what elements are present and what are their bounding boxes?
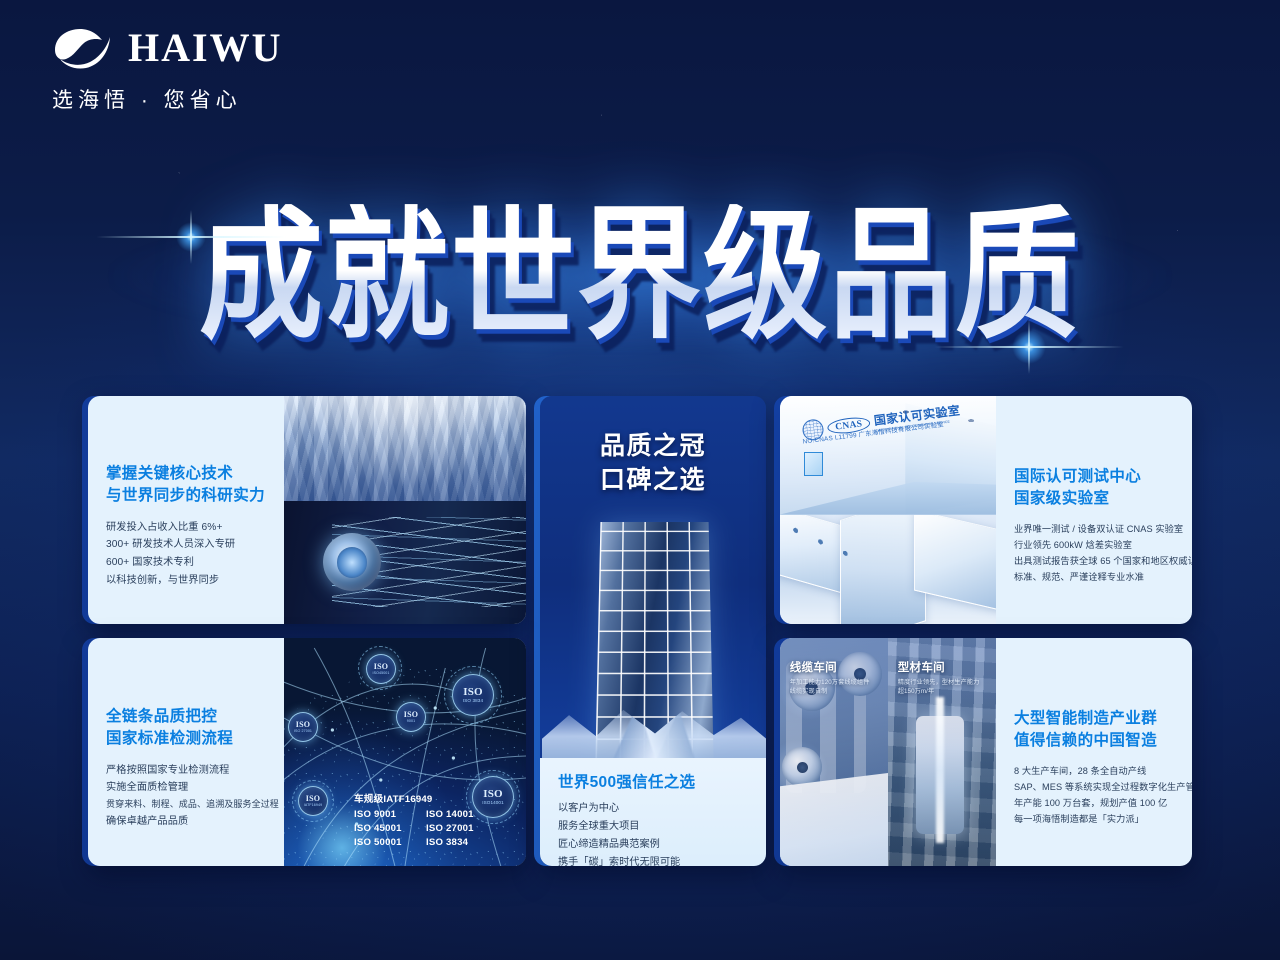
corridor-floor — [780, 479, 996, 515]
fiber-optic-photo — [284, 501, 526, 624]
list-item: 每一项海悟制造都是「实力派」 — [1014, 812, 1176, 828]
iso-badge-word: ISO — [463, 687, 483, 698]
list-item: 业界唯一测试 / 设备双认证 CNAS 实验室 — [1014, 522, 1176, 538]
card-grid: 掌握关键核心技术 与世界同步的科研实力 研发投入占收入比重 6%+ 300+ 研… — [88, 396, 1192, 866]
card-quality-control-media: ISO ISO45001 ISO 9001 ISO ISO 3834 — [284, 638, 526, 866]
card-quality-control-text: 全链条品质把控 国家标准检测流程 严格按照国家专业检测流程 实施全面质检管理 贯… — [88, 638, 284, 866]
center-card-footer-bullets: 以客户为中心 服务全球重大项目 匠心缔造精品典范案例 携手「碳」索时代无限可能 — [558, 800, 750, 866]
iso-standard: ISO 14001 — [426, 809, 474, 820]
center-card-heading: 品质之冠 口碑之选 — [540, 430, 766, 497]
center-card-heading-line2: 口碑之选 — [540, 464, 766, 498]
lab-corridor-photo: CNAS 国家认可实验室 CHINA NATIONAL ACCREDITATIO… — [780, 396, 996, 515]
card-manufacturing-inner: 线缆车间 年加工能力120万套线缆组件 线缆实现自制 型材车间 精度行业领先，型… — [780, 638, 1192, 866]
number-one-tower-graphic — [554, 516, 756, 758]
card-quality-control-title-line1: 全链条品质把控 — [106, 706, 268, 728]
card-technology[interactable]: 掌握关键核心技术 与世界同步的科研实力 研发投入占收入比重 6%+ 300+ 研… — [88, 396, 526, 624]
card-technology-bullets: 研发投入占收入比重 6%+ 300+ 研发技术人员深入专研 600+ 国家技术专… — [106, 519, 268, 589]
iso-standard: ISO 3834 — [426, 837, 474, 848]
iso-badge-word: ISO — [404, 711, 418, 719]
iso-badge-number: ISO 27001 — [294, 729, 312, 733]
iso-badge-number: 9001 — [407, 719, 415, 723]
iso-badge-number: ISO 3834 — [463, 698, 483, 704]
center-card-footer: 世界500强信任之选 以客户为中心 服务全球重大项目 匠心缔造精品典范案例 携手… — [540, 758, 766, 866]
hvac-duct-photo — [780, 515, 996, 624]
roller-face — [782, 747, 822, 787]
card-quality-control-inner: 全链条品质把控 国家标准检测流程 严格按照国家专业检测流程 实施全面质检管理 贯… — [88, 638, 526, 866]
card-quality-control-bullets: 严格按照国家专业检测流程 实施全面质检管理 贯穿来料、制程、成品、追溯及服务全过… — [106, 762, 268, 830]
card-manufacturing-title-line2: 值得信赖的中国智造 — [1014, 730, 1176, 752]
card-laboratory-inner: CNAS 国家认可实验室 CHINA NATIONAL ACCREDITATIO… — [780, 396, 1192, 624]
list-item: 研发投入占收入比重 6%+ — [106, 519, 268, 537]
card-technology-title: 掌握关键核心技术 与世界同步的科研实力 — [106, 463, 268, 507]
list-item: 严格按照国家专业检测流程 — [106, 762, 268, 780]
list-item: 出具测试报告获全球 65 个国家和地区权威认可 — [1014, 554, 1176, 570]
iso-badge-27001: ISO ISO 27001 — [288, 712, 318, 742]
iso-list-grid: ISO 9001 ISO 14001 ISO 45001 ISO 27001 I… — [354, 809, 474, 848]
card-laboratory-bullets: 业界唯一测试 / 设备双认证 CNAS 实验室 行业领先 600kW 焓差实验室… — [1014, 522, 1176, 585]
list-item: 服务全球重大项目 — [558, 818, 750, 836]
iso-badge-number: IATF16949 — [304, 803, 322, 807]
list-item: 携手「碳」索时代无限可能 — [558, 854, 750, 866]
card-technology-text: 掌握关键核心技术 与世界同步的科研实力 研发投入占收入比重 6%+ 300+ 研… — [88, 396, 284, 624]
list-item: 以科技创新，与世界同步 — [106, 572, 268, 590]
card-quality-control[interactable]: 全链条品质把控 国家标准检测流程 严格按照国家专业检测流程 实施全面质检管理 贯… — [88, 638, 526, 866]
iso-standards-list: 车规级IATF16949 ISO 9001 ISO 14001 ISO 4500… — [354, 791, 474, 848]
list-item: 贯穿来料、制程、成品、追溯及服务全过程 — [106, 797, 268, 812]
iso-standard: ISO 45001 — [354, 823, 416, 834]
brand-slogan: 选海悟 · 您省心 — [52, 84, 352, 114]
card-laboratory-title: 国际认可测试中心 国家级实验室 — [1014, 466, 1176, 510]
wall-control-panel — [804, 452, 823, 476]
card-quality-control-title: 全链条品质把控 国家标准检测流程 — [106, 706, 268, 750]
iso-badge-word: ISO — [296, 721, 310, 729]
workshop-detail-line1: 年加工能力120万套线缆组件 — [790, 678, 870, 687]
brand-wordmark: HAIWU — [128, 28, 282, 68]
card-quality-control-title-line2: 国家标准检测流程 — [106, 728, 268, 750]
card-center-feature[interactable]: 品质之冠 口碑之选 世界500强信任之选 以客户为中心 服务全球重大项目 匠心缔… — [540, 396, 766, 866]
list-item: 标准、规范、严谨诠释专业水准 — [1014, 570, 1176, 586]
global-network-graphic: ISO ISO45001 ISO 9001 ISO ISO 3834 — [284, 638, 526, 866]
iso-badge-word: ISO — [483, 789, 503, 800]
iso-badge-iatf16949: ISO IATF16949 — [298, 786, 328, 816]
list-item: 行业领先 600kW 焓差实验室 — [1014, 538, 1176, 554]
workshop-label-profile: 型材车间 精度行业领先，型材生产能力 超150万m/年 — [898, 659, 980, 697]
iso-standard: ISO 27001 — [426, 823, 474, 834]
center-card-footer-title: 世界500强信任之选 — [558, 770, 750, 792]
card-technology-title-line1: 掌握关键核心技术 — [106, 463, 268, 485]
card-laboratory-text: 国际认可测试中心 国家级实验室 业界唯一测试 / 设备双认证 CNAS 实验室 … — [996, 396, 1192, 624]
list-item: 年产能 100 万台套，规划产值 100 亿 — [1014, 796, 1176, 812]
card-manufacturing-title-line1: 大型智能制造产业群 — [1014, 708, 1176, 730]
profile-workshop-photo: 型材车间 精度行业领先，型材生产能力 超150万m/年 — [888, 638, 996, 866]
coolant-stream — [936, 697, 945, 843]
poster-root: HAIWU 选海悟 · 您省心 成就世界级品质 掌握关键核心技术 与世界同步的科… — [0, 0, 1280, 960]
list-item: 匠心缔造精品典范案例 — [558, 836, 750, 854]
workshop-detail-line2: 超150万m/年 — [898, 687, 980, 696]
workshop-name: 线缆车间 — [790, 659, 870, 675]
iso-badge-3834: ISO ISO 3834 — [452, 674, 494, 716]
workshop-photo-pair: 线缆车间 年加工能力120万套线缆组件 线缆实现自制 型材车间 精度行业领先，型… — [780, 638, 996, 866]
workshop-label-cable: 线缆车间 年加工能力120万套线缆组件 线缆实现自制 — [790, 659, 870, 697]
list-item: SAP、MES 等系统实现全过程数字化生产管理 — [1014, 780, 1176, 796]
brand-logo-row: HAIWU — [52, 26, 352, 70]
brand-logo: HAIWU 选海悟 · 您省心 — [52, 26, 352, 114]
iso-badge-9001: ISO 9001 — [396, 702, 426, 732]
list-item: 600+ 国家技术专利 — [106, 554, 268, 572]
workshop-detail-line1: 精度行业领先，型材生产能力 — [898, 678, 980, 687]
list-item: 实施全面质检管理 — [106, 779, 268, 797]
list-item: 确保卓越产品品质 — [106, 813, 268, 831]
cable-workshop-photo: 线缆车间 年加工能力120万套线缆组件 线缆实现自制 — [780, 638, 888, 866]
card-manufacturing[interactable]: 线缆车间 年加工能力120万套线缆组件 线缆实现自制 型材车间 精度行业领先，型… — [780, 638, 1192, 866]
card-technology-media — [284, 396, 526, 624]
iso-standard: ISO 50001 — [354, 837, 416, 848]
card-manufacturing-title: 大型智能制造产业群 值得信赖的中国智造 — [1014, 708, 1176, 752]
workshop-name: 型材车间 — [898, 659, 980, 675]
center-card-heading-line1: 品质之冠 — [540, 430, 766, 464]
iso-badge-word: ISO — [374, 663, 388, 671]
leaf-wave-icon — [52, 26, 114, 70]
card-laboratory-title-line2: 国家级实验室 — [1014, 488, 1176, 510]
headline-area: 成就世界级品质 — [0, 196, 1280, 356]
office-workspace-photo — [284, 396, 526, 501]
page-title: 成就世界级品质 — [199, 204, 1081, 348]
list-item: 8 大生产车间，28 条全自动产线 — [1014, 764, 1176, 780]
list-item: 300+ 研发技术人员深入专研 — [106, 536, 268, 554]
card-manufacturing-media: 线缆车间 年加工能力120万套线缆组件 线缆实现自制 型材车间 精度行业领先，型… — [780, 638, 996, 866]
iso-badge-14001: ISO ISO14001 — [472, 776, 514, 818]
card-manufacturing-text: 大型智能制造产业群 值得信赖的中国智造 8 大生产车间，28 条全自动产线 SA… — [996, 638, 1192, 866]
iso-badge-number: ISO45001 — [373, 671, 390, 675]
iso-list-heading: 车规级IATF16949 — [354, 791, 474, 805]
iso-badge-number: ISO14001 — [482, 800, 504, 806]
card-technology-inner: 掌握关键核心技术 与世界同步的科研实力 研发投入占收入比重 6%+ 300+ 研… — [88, 396, 526, 624]
iso-badge-word: ISO — [306, 795, 320, 803]
iso-badge-45001: ISO ISO45001 — [366, 654, 396, 684]
fiber-cable-cross-section — [323, 533, 381, 591]
iso-standard: ISO 9001 — [354, 809, 416, 820]
card-technology-title-line2: 与世界同步的科研实力 — [106, 485, 268, 507]
card-manufacturing-bullets: 8 大生产车间，28 条全自动产线 SAP、MES 等系统实现全过程数字化生产管… — [1014, 764, 1176, 827]
list-item: 以客户为中心 — [558, 800, 750, 818]
card-laboratory-media: CNAS 国家认可实验室 CHINA NATIONAL ACCREDITATIO… — [780, 396, 996, 624]
card-laboratory[interactable]: CNAS 国家认可实验室 CHINA NATIONAL ACCREDITATIO… — [780, 396, 1192, 624]
card-laboratory-title-line1: 国际认可测试中心 — [1014, 466, 1176, 488]
workshop-detail-line2: 线缆实现自制 — [790, 687, 870, 696]
